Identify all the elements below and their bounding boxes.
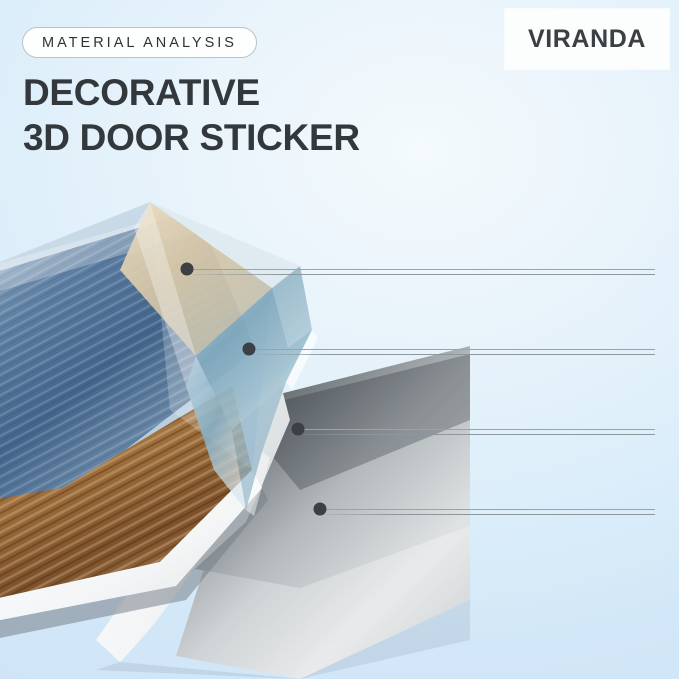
callout-leader-line-3 bbox=[304, 429, 655, 430]
callout-dot-3 bbox=[292, 423, 305, 436]
callout-leader-line-1 bbox=[193, 269, 655, 270]
page-title: DECORATIVE 3D DOOR STICKER bbox=[23, 70, 360, 160]
callout-leader-line-2 bbox=[255, 349, 655, 350]
brand-name: VIRANDA bbox=[528, 25, 646, 54]
brand-logo-plate: VIRANDA bbox=[505, 9, 669, 69]
callout-dot-4 bbox=[314, 503, 327, 516]
callout-underline-4 bbox=[326, 514, 655, 515]
material-analysis-badge: MATERIAL ANALYSIS bbox=[22, 27, 257, 58]
page-title-line1: DECORATIVE bbox=[23, 70, 360, 115]
product-infographic-poster: MATERIAL ANALYSIS DECORATIVE 3D DOOR STI… bbox=[0, 0, 679, 679]
callout-underline-2 bbox=[255, 354, 655, 355]
callout-dot-1 bbox=[181, 263, 194, 276]
badge-label: MATERIAL ANALYSIS bbox=[42, 35, 237, 51]
callout-dot-2 bbox=[243, 343, 256, 356]
callout-leader-line-4 bbox=[326, 509, 655, 510]
callout-underline-1 bbox=[193, 274, 655, 275]
sticker-cutaway-illustration bbox=[0, 170, 470, 679]
page-title-line2: 3D DOOR STICKER bbox=[23, 115, 360, 160]
callout-underline-3 bbox=[304, 434, 655, 435]
